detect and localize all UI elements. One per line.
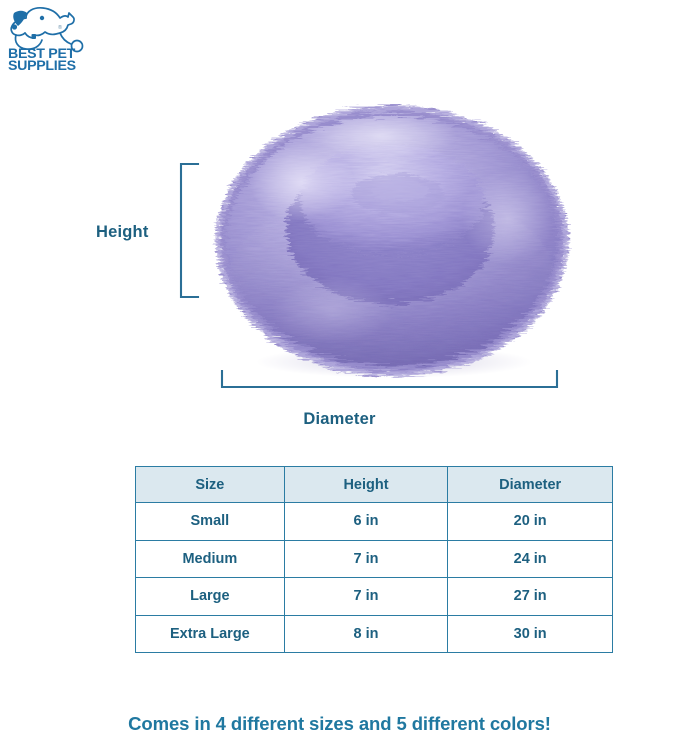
- table-head: Size Height Diameter: [136, 467, 613, 503]
- table-body: Small 6 in 20 in Medium 7 in 24 in Large…: [136, 503, 613, 653]
- column-header-size: Size: [136, 467, 285, 503]
- table-row: Large 7 in 27 in: [136, 578, 613, 616]
- footer-tagline: Comes in 4 different sizes and 5 differe…: [0, 713, 679, 735]
- table-row: Small 6 in 20 in: [136, 503, 613, 541]
- dog-nose-icon: [12, 24, 17, 29]
- cell-height: 6 in: [284, 503, 448, 541]
- column-header-height: Height: [284, 467, 448, 503]
- trademark-symbol: ®: [58, 24, 62, 31]
- pet-bed-illustration: [212, 78, 572, 378]
- table-row: Medium 7 in 24 in: [136, 540, 613, 578]
- cell-diameter: 27 in: [448, 578, 613, 616]
- diameter-label: Diameter: [0, 410, 679, 429]
- column-header-diameter: Diameter: [448, 467, 613, 503]
- cell-size: Large: [136, 578, 285, 616]
- cell-size: Small: [136, 503, 285, 541]
- brand-logo: ® BEST PET SUPPLIES: [6, 4, 92, 72]
- height-bracket: [181, 164, 198, 297]
- size-chart-table: Size Height Diameter Small 6 in 20 in Me…: [135, 466, 613, 653]
- table-header-row: Size Height Diameter: [136, 467, 613, 503]
- cell-diameter: 20 in: [448, 503, 613, 541]
- cell-diameter: 30 in: [448, 615, 613, 653]
- dog-collar-tag: [32, 34, 37, 39]
- cell-diameter: 24 in: [448, 540, 613, 578]
- cell-height: 7 in: [284, 540, 448, 578]
- product-infographic: { "brand": { "logo_line1": "BEST PET", "…: [0, 0, 679, 742]
- cell-size: Medium: [136, 540, 285, 578]
- cell-height: 7 in: [284, 578, 448, 616]
- bed-cushion-crease: [352, 174, 444, 214]
- dog-eye-icon: [40, 16, 44, 20]
- height-label: Height: [96, 223, 149, 242]
- table-row: Extra Large 8 in 30 in: [136, 615, 613, 653]
- cell-size: Extra Large: [136, 615, 285, 653]
- cell-height: 8 in: [284, 615, 448, 653]
- logo-wordmark-line2: SUPPLIES: [8, 58, 76, 72]
- dog-mascot-icon: ® BEST PET SUPPLIES: [6, 4, 92, 72]
- product-image-stage: [212, 78, 572, 378]
